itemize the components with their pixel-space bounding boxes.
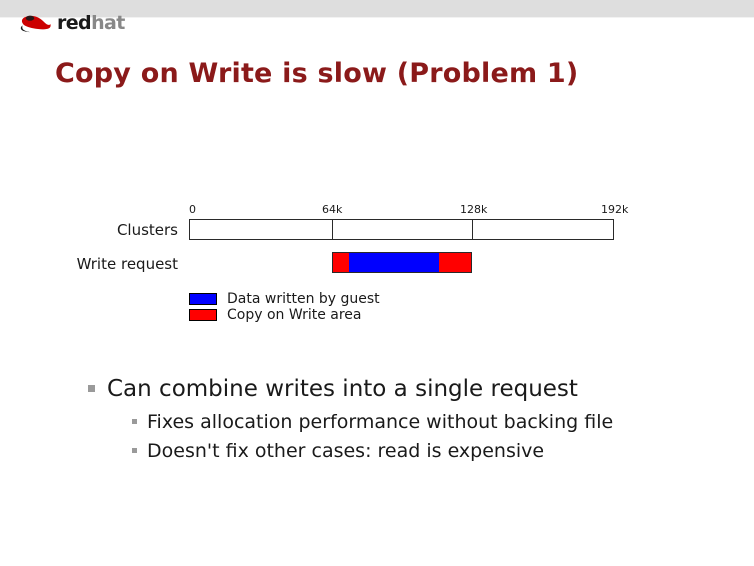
legend-item-copy-on-write: Copy on Write area (189, 307, 380, 323)
tick-label-64k: 64k (322, 203, 342, 216)
legend-swatch-red-icon (189, 309, 217, 321)
bullet-square-icon (88, 385, 95, 392)
logo-text-hat: hat (91, 12, 125, 34)
page-title: Copy on Write is slow (Problem 1) (55, 58, 578, 89)
legend-label-data-written: Data written by guest (227, 291, 380, 307)
redhat-logo: redhat (18, 10, 125, 36)
clusters-bar (189, 219, 614, 240)
logo-text-red: red (57, 12, 91, 34)
legend-item-data-written: Data written by guest (189, 291, 380, 307)
bullet-text-level2-1: Fixes allocation performance without bac… (147, 409, 613, 437)
bullet-item-level2-2: Doesn't fix other cases: read is expensi… (132, 438, 728, 466)
write-bar-segment-cow-right (439, 253, 471, 272)
tick-label-192k: 192k (601, 203, 628, 216)
legend-swatch-blue-icon (189, 293, 217, 305)
write-request-bar (332, 252, 472, 273)
redhat-wordmark: redhat (57, 14, 125, 33)
bullet-square-icon (132, 448, 137, 453)
bullet-item-level1: Can combine writes into a single request (88, 374, 728, 405)
cluster-divider-64k (332, 219, 333, 240)
bullet-list: Can combine writes into a single request… (88, 374, 728, 466)
write-request-row-label: Write request (0, 255, 178, 273)
legend-label-copy-on-write: Copy on Write area (227, 307, 361, 323)
bullet-text-level1: Can combine writes into a single request (107, 374, 578, 405)
tick-label-128k: 128k (460, 203, 487, 216)
clusters-row-label: Clusters (0, 221, 178, 239)
diagram-legend: Data written by guest Copy on Write area (189, 291, 380, 323)
cluster-divider-128k (472, 219, 473, 240)
bullet-item-level2-1: Fixes allocation performance without bac… (132, 409, 728, 437)
tick-label-0: 0 (189, 203, 196, 216)
write-bar-segment-data (349, 253, 439, 272)
write-bar-segment-cow-left (333, 253, 349, 272)
bullet-square-icon (132, 419, 137, 424)
bullet-text-level2-2: Doesn't fix other cases: read is expensi… (147, 438, 544, 466)
redhat-fedora-icon (18, 12, 54, 34)
